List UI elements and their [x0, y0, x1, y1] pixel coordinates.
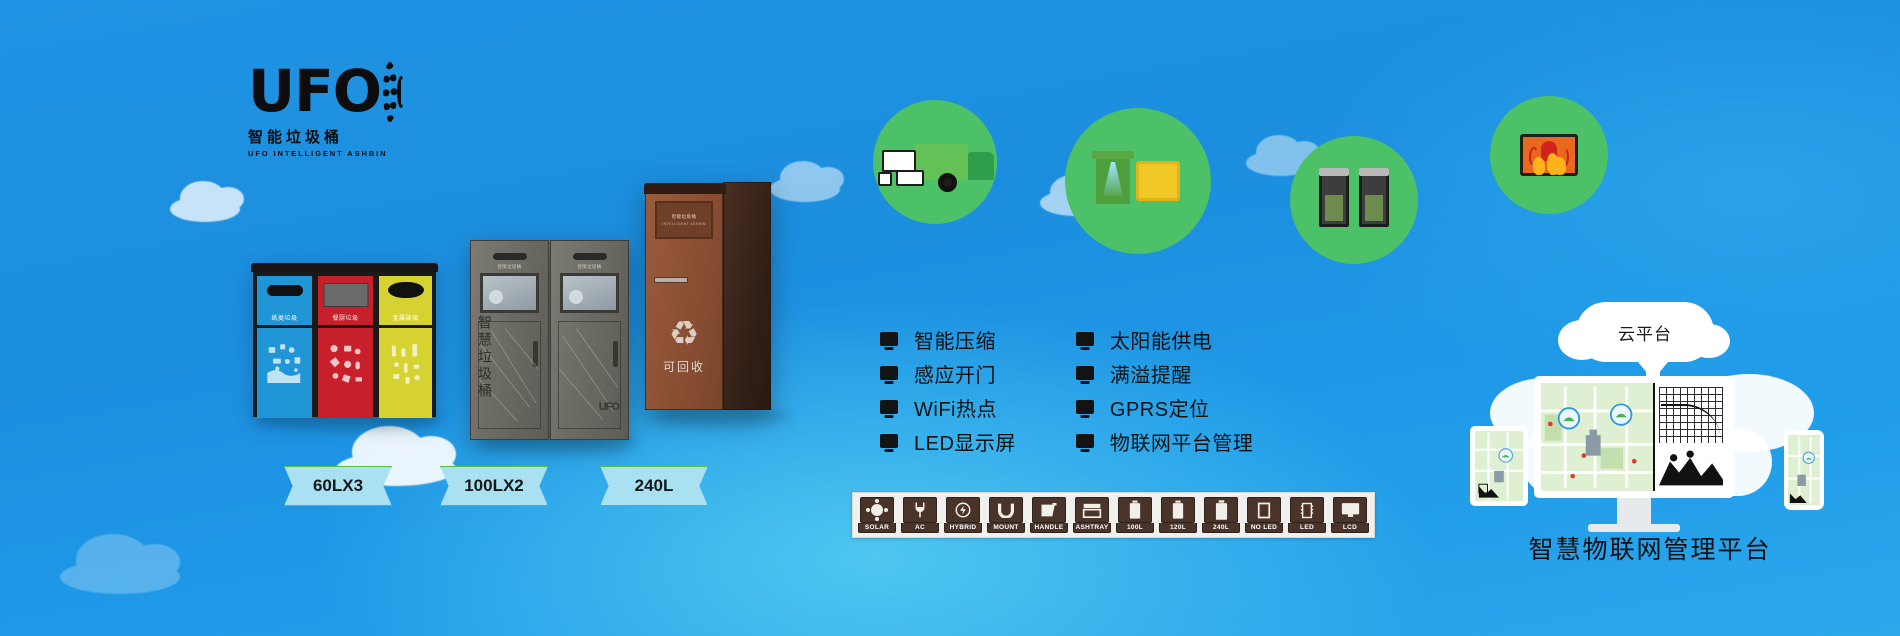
alarm-bin: [1520, 134, 1578, 176]
garbage-truck-icon: [873, 100, 997, 224]
compartment-label: 金属玻璃: [392, 313, 418, 325]
bin-fill-level: [1365, 195, 1383, 221]
kitchen-waste-graphic: [324, 340, 367, 390]
cloud-platform-label: 云平台: [1618, 320, 1672, 345]
feature-item: LED显示屏: [880, 424, 1016, 458]
iot-platform-illustration: 云平台: [1470, 318, 1830, 568]
feature-item: WiFi热点: [880, 390, 1016, 424]
feature-item: 智能压缩: [880, 322, 1016, 356]
capacity-label: 60LX3: [313, 476, 363, 496]
hybrid-power-icon: [946, 497, 980, 523]
paper-waste-graphic: [263, 340, 306, 390]
spec-icon-label: 120L: [1159, 523, 1197, 533]
bin-strip: [654, 277, 688, 283]
monitor-bezel: [1534, 376, 1734, 498]
smart-compacting-bin-pair: 智能垃圾桶 智慧垃圾桶 智能垃圾桶 UFO: [470, 240, 629, 440]
sensor-beam: [1103, 162, 1123, 196]
bin-display-screen: [480, 273, 539, 313]
spec-icon-label: LED: [1288, 523, 1326, 533]
monitor-icon: [1076, 366, 1094, 380]
spec-icon-label: ASHTRAY: [1073, 523, 1111, 533]
cloud-decoration: [60, 560, 180, 594]
cloud-platform-badge: 云平台: [1576, 302, 1714, 362]
brand-logo: UFO 智能垃圾桶 UFO INTELLIGENT ASHBIN: [248, 62, 396, 158]
fire-alarm-icon: [1490, 96, 1608, 214]
compaction-circle: [1290, 136, 1418, 264]
spec-icon-label: HANDLE: [1030, 523, 1068, 533]
monitor-icon: [880, 434, 898, 448]
compartment-top: 金属玻璃: [379, 276, 432, 328]
monitor-icon: [1076, 400, 1094, 414]
monitor-icon: [1076, 434, 1094, 448]
waste-slot-icon: [267, 285, 303, 296]
logo-letters: UFO: [248, 65, 381, 118]
feature-label: 太阳能供电: [1110, 325, 1213, 354]
tablet-device: [1470, 426, 1528, 506]
compaction-bin: [1359, 173, 1389, 227]
feature-column-right: 太阳能供电 满溢提醒 GPRS定位 物联网平台管理: [1076, 322, 1254, 458]
spec-icon-solar: SOLAR: [858, 497, 896, 533]
unit-top-label: 智能垃圾桶: [551, 264, 628, 270]
feature-item: 感应开门: [880, 356, 1016, 390]
spec-icon-120l: 120L: [1159, 497, 1197, 533]
feature-label: GPRS定位: [1110, 393, 1210, 422]
map-dashboard-panel: [1541, 383, 1653, 491]
bin-cap: [1319, 168, 1349, 176]
feature-list: 智能压缩 感应开门 WiFi热点 LED显示屏 太阳能供电 满溢提醒: [880, 322, 1253, 458]
bin-240l-icon: [1204, 497, 1238, 523]
monitor-icon: [880, 332, 898, 346]
analytics-panel: [1653, 383, 1727, 491]
bin-lid: [1092, 151, 1134, 159]
smart-bin-unit: 智能垃圾桶 智慧垃圾桶: [470, 240, 549, 440]
recycle-label: 可回收: [646, 358, 722, 375]
spec-icon-strip: SOLAR AC HYBRID MOUNT: [852, 492, 1375, 538]
bin-vertical-label: 智慧垃圾桶: [475, 315, 495, 400]
feature-column-left: 智能压缩 感应开门 WiFi热点 LED显示屏: [880, 322, 1016, 458]
bin-info-panel: 智能垃圾桶 INTELLIGENT ASHBIN: [655, 201, 713, 239]
bin-100l-icon: [1118, 497, 1152, 523]
handle-icon: [1032, 497, 1066, 523]
logo-chinese-name: 智能垃圾桶: [248, 126, 396, 147]
fire-alarm-circle: [1490, 96, 1608, 214]
fleet-management-circle: [873, 100, 997, 224]
monitor-icon: [880, 366, 898, 380]
cloud-decoration: [770, 176, 840, 202]
compaction-bins-icon: [1290, 136, 1418, 264]
bin-compartment-paper: 纸类垃圾: [253, 272, 314, 417]
phone-dashboard: [1788, 435, 1820, 505]
spec-icon-lcd: LCD: [1331, 497, 1369, 533]
tablet-map-graphic: [1475, 431, 1523, 501]
feature-item: 太阳能供电: [1076, 322, 1254, 356]
city-map-graphic: [1541, 383, 1653, 491]
bin-front-panel: 智能垃圾桶 INTELLIGENT ASHBIN ♻ 可回收: [645, 192, 723, 410]
vent-icon: [573, 253, 607, 260]
truck-cab: [968, 152, 994, 180]
monitor-icon: [880, 400, 898, 414]
bin-side-panel: [723, 182, 771, 410]
feature-item: GPRS定位: [1076, 390, 1254, 424]
spec-icon-mount: MOUNT: [987, 497, 1025, 533]
info-panel-line2: INTELLIGENT ASHBIN: [662, 222, 706, 226]
plug-icon: [903, 497, 937, 523]
feature-label: LED显示屏: [914, 427, 1016, 456]
compartment-body: [257, 328, 312, 418]
bin-hood: [251, 263, 438, 272]
spec-icon-240l: 240L: [1202, 497, 1240, 533]
unit-top-label: 智能垃圾桶: [471, 264, 548, 270]
spec-icon-no-led: NO LED: [1245, 497, 1283, 533]
recycle-icon: ♻: [669, 317, 699, 351]
logo-wordmark: UFO: [248, 62, 396, 122]
spec-icon-label: 240L: [1202, 523, 1240, 533]
feature-item: 满溢提醒: [1076, 356, 1254, 390]
monitor-screen: [1541, 383, 1727, 491]
bin-compartment-kitchen: 餐厨垃圾: [314, 272, 375, 417]
spec-icon-label: MOUNT: [987, 523, 1025, 533]
lcd-icon: [1333, 497, 1367, 523]
ashtray-icon: [1075, 497, 1109, 523]
smart-bin-unit: 智能垃圾桶 UFO: [550, 240, 629, 440]
phone-map-graphic: [1788, 435, 1820, 505]
tablet-icon: [896, 170, 924, 186]
spec-icon-label: AC: [901, 523, 939, 533]
desktop-monitor-device: [1534, 376, 1734, 532]
feature-label: WiFi热点: [914, 393, 997, 422]
sensor-bin: [1096, 158, 1130, 204]
cloud-decoration: [170, 196, 240, 222]
capacity-banner-100lx2: 100LX2: [440, 466, 548, 506]
monitor-icon: [1076, 332, 1094, 346]
spec-icon-ashtray: ASHTRAY: [1073, 497, 1111, 533]
capacity-banner-240l: 240L: [600, 466, 708, 506]
bin-cap: [1359, 168, 1389, 176]
compaction-bin: [1319, 173, 1349, 227]
compartment-label: 纸类垃圾: [271, 313, 297, 325]
phone-icon: [878, 172, 892, 186]
bin-brand-mark: UFO: [599, 401, 619, 413]
monitor-neck: [1617, 498, 1651, 524]
spec-icon-label: NO LED: [1245, 523, 1283, 533]
vent-icon: [493, 253, 527, 260]
compartment-top: 纸类垃圾: [257, 276, 312, 328]
feature-label: 满溢提醒: [1110, 359, 1192, 388]
laptop-icon: [882, 150, 916, 172]
capacity-label: 100LX2: [464, 476, 524, 496]
compartment-display: [323, 283, 368, 307]
no-led-icon: [1247, 497, 1281, 523]
bin-lip: [644, 183, 726, 194]
smartphone-device: [1784, 430, 1824, 510]
bin-compartment-metal-glass: 金属玻璃: [375, 272, 436, 417]
tablet-dashboard: [1475, 431, 1523, 501]
spec-icon-label: 100L: [1116, 523, 1154, 533]
compartment-label: 餐厨垃圾: [332, 313, 358, 325]
led-icon: [1290, 497, 1324, 523]
area-chart-graphic: [1659, 447, 1723, 487]
logo-english-name: UFO INTELLIGENT ASHBIN: [248, 149, 396, 158]
waste-slot-icon: [388, 282, 424, 298]
bin-display-screen: [560, 273, 619, 313]
bin-sensor-icon: [1065, 108, 1211, 254]
spec-icon-label: HYBRID: [944, 523, 982, 533]
recyclable-bin: 智能垃圾桶 INTELLIGENT ASHBIN ♻ 可回收: [645, 192, 723, 410]
collection-bin: [1136, 161, 1180, 201]
bin-fill-level: [1325, 195, 1343, 221]
compartment-top: 餐厨垃圾: [318, 276, 373, 328]
feature-label: 感应开门: [914, 359, 996, 388]
capacity-banner-60lx3: 60LX3: [284, 466, 392, 506]
platform-title: 智慧物联网管理平台: [1470, 530, 1830, 566]
wall-mount-icon: [989, 497, 1023, 523]
truck-wheel: [938, 173, 957, 192]
spec-icon-handle: HANDLE: [1030, 497, 1068, 533]
compartment-body: [379, 328, 432, 418]
logo-ring-icon: [383, 62, 397, 122]
triple-recycling-bin: 纸类垃圾 餐厨垃圾: [253, 272, 436, 417]
metal-glass-waste-graphic: [385, 340, 426, 388]
spec-icon-hybrid: HYBRID: [944, 497, 982, 533]
spec-icon-100l: 100L: [1116, 497, 1154, 533]
sun-icon: [860, 497, 894, 523]
spec-icon-ac: AC: [901, 497, 939, 533]
spec-icon-label: SOLAR: [858, 523, 896, 533]
info-panel-line1: 智能垃圾桶: [672, 214, 697, 220]
feature-label: 物联网平台管理: [1110, 427, 1254, 456]
line-chart-graphic: [1659, 387, 1723, 443]
fill-sensor-circle: [1065, 108, 1211, 254]
spec-icon-led: LED: [1288, 497, 1326, 533]
feature-label: 智能压缩: [914, 325, 996, 354]
compartment-body: [318, 328, 373, 418]
capacity-label: 240L: [635, 476, 674, 496]
product-banner: UFO 智能垃圾桶 UFO INTELLIGENT ASHBIN 纸类垃圾: [0, 0, 1900, 636]
spec-icon-label: LCD: [1331, 523, 1369, 533]
feature-item: 物联网平台管理: [1076, 424, 1254, 458]
bin-120l-icon: [1161, 497, 1195, 523]
